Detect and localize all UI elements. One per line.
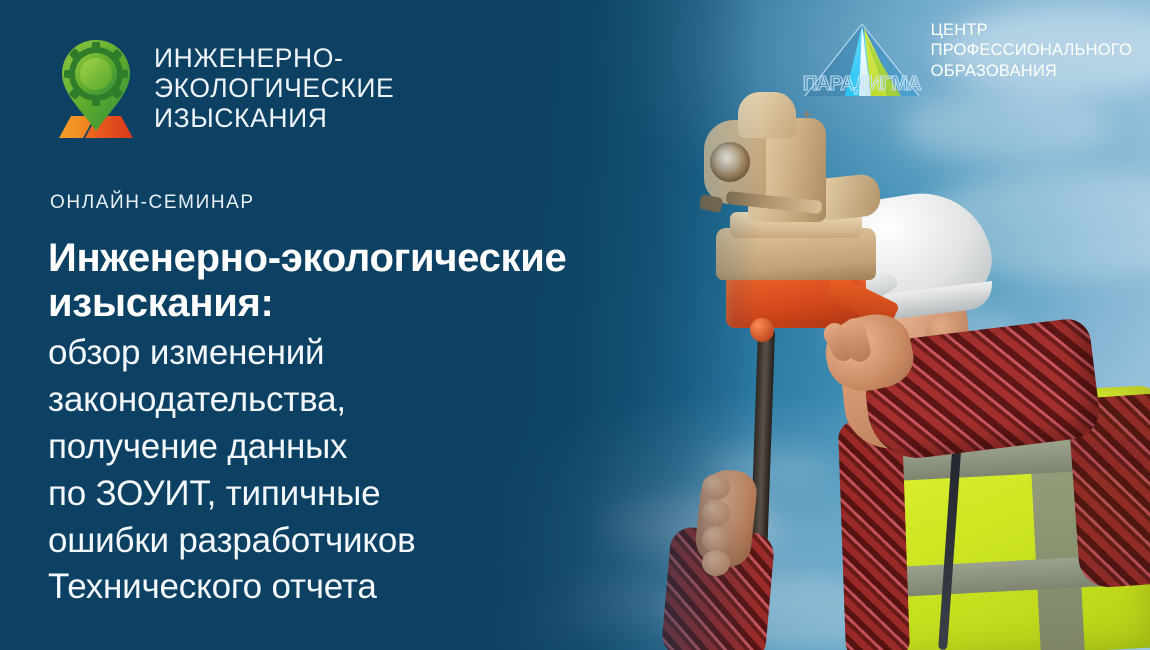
subtitle: обзор изменений законодательства, получе… [48,330,608,611]
theodolite-crosshair-mark: + [802,106,812,123]
logo-left-label: ИНЖЕНЕРНО- ЭКОЛОГИЧЕСКИЕ ИЗЫСКАНИЯ [154,43,394,133]
logo-paradigma[interactable]: ПАРАДИГМА ЦЕНТР ПРОФЕССИОНАЛЬНОГО ОБРАЗО… [801,14,1132,100]
pyramid-icon: ПАРАДИГМА [801,18,923,100]
map-pin-gear-icon [55,36,137,140]
page-title: Инженерно-экологические изыскания: [48,236,698,326]
logo-right-label: ЦЕНТР ПРОФЕССИОНАЛЬНОГО ОБРАЗОВАНИЯ [931,20,1132,81]
logo-engineering-ecological-surveys[interactable]: ИНЖЕНЕРНО- ЭКОЛОГИЧЕСКИЕ ИЗЫСКАНИЯ [55,36,394,140]
webinar-banner: + [0,0,1150,650]
event-type-kicker: ОНЛАЙН-СЕМИНАР [50,192,255,214]
paradigma-wordmark: ПАРАДИГМА [801,74,923,94]
